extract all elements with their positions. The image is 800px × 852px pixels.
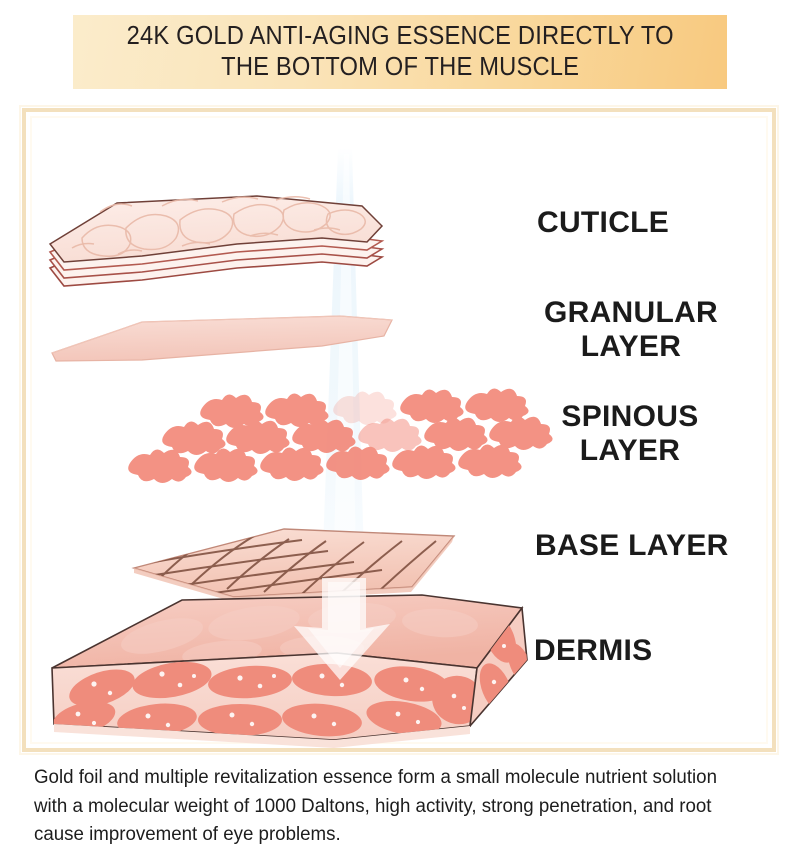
layer-base	[134, 529, 454, 602]
label-dermis: DERMIS	[534, 634, 652, 668]
layer-cuticle	[50, 196, 382, 286]
label-spinous: SPINOUS LAYER	[535, 400, 725, 468]
layer-dermis	[49, 595, 537, 748]
header-banner: 24K GOLD ANTI-AGING ESSENCE DIRECTLY TO …	[73, 15, 727, 89]
layer-spinous	[128, 388, 552, 483]
spinous-cell-row-1	[200, 388, 528, 428]
caption-text: Gold foil and multiple revitalization es…	[34, 764, 738, 850]
page-title: 24K GOLD ANTI-AGING ESSENCE DIRECTLY TO …	[126, 21, 673, 83]
label-granular: GRANULAR LAYER	[533, 296, 729, 364]
label-base: BASE LAYER	[535, 529, 729, 563]
label-cuticle: CUTICLE	[537, 206, 669, 240]
